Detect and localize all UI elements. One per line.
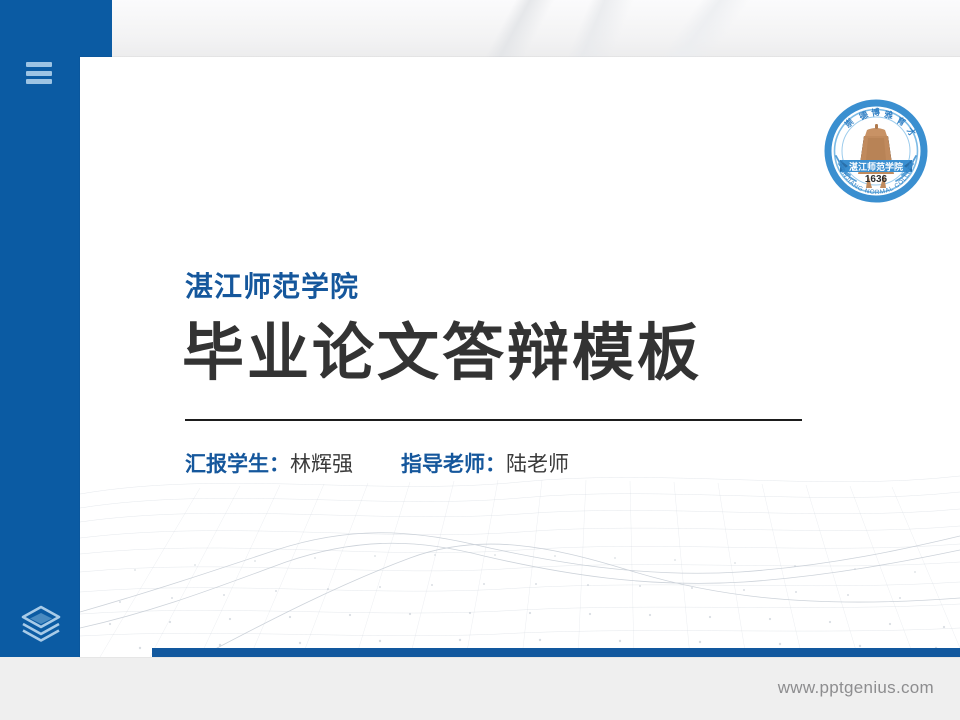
title-divider-rule — [185, 419, 802, 421]
footer-website-url: www.pptgenius.com — [778, 678, 934, 698]
advisor-name: 陆老师 — [506, 448, 569, 478]
presenter-name: 林辉强 — [290, 448, 353, 478]
institution-subtitle: 湛江师范学院 — [185, 265, 359, 305]
slide-main-title: 毕业论文答辩模板 — [182, 322, 702, 385]
hamburger-bar-1 — [26, 62, 52, 67]
presenter-label: 汇报学生： — [185, 448, 290, 478]
hamburger-bar-3 — [26, 79, 52, 84]
hamburger-bar-2 — [26, 71, 52, 76]
svg-text:1636: 1636 — [865, 174, 888, 185]
layers-stack-icon[interactable] — [19, 603, 63, 643]
slide-bottom-accent-bar — [152, 648, 960, 657]
university-crest-logo: 崇 德 博 雅 育 才 — [820, 98, 932, 204]
advisor-label: 指导老师： — [401, 448, 506, 478]
hamburger-menu-icon[interactable] — [26, 62, 52, 84]
top-decor-strip — [0, 0, 960, 58]
wireframe-terrain-decoration — [80, 452, 960, 657]
byline-row: 汇报学生： 林辉强 指导老师： 陆老师 — [185, 448, 569, 478]
presentation-viewer: 崇 德 博 雅 育 才 — [0, 0, 960, 720]
svg-text:湛江师范学院: 湛江师范学院 — [849, 161, 903, 172]
